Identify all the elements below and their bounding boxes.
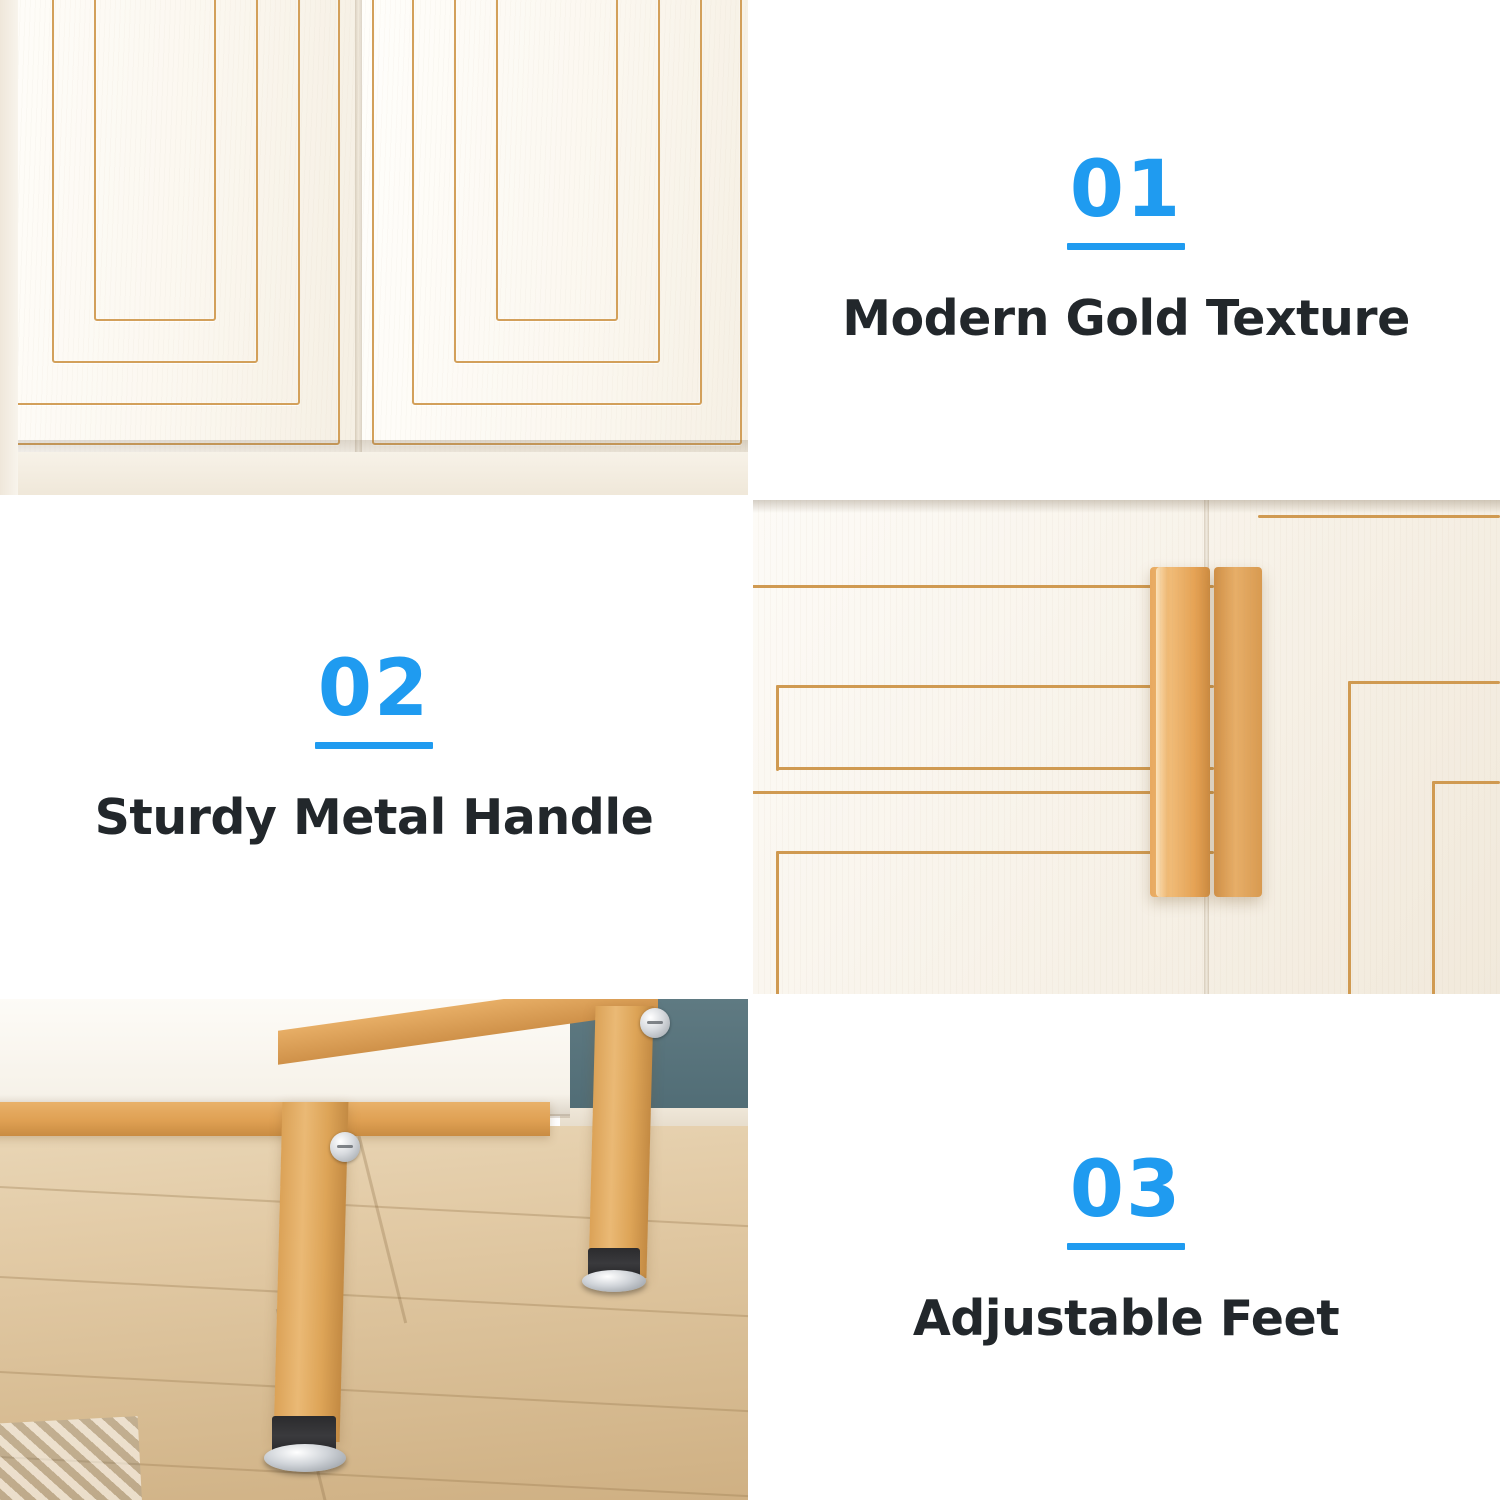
feature-02-underline [315, 742, 433, 749]
adjustable-foot-pad-front [264, 1444, 346, 1472]
feature-collage: 01 Modern Gold Texture 02 Sturdy Metal H… [0, 0, 1500, 1500]
leg-screw [330, 1132, 360, 1162]
door-wood-texture [0, 0, 750, 497]
cabinet-base-band [0, 452, 750, 497]
feature-03-underline [1067, 1243, 1185, 1250]
cabinet-handle-closeup-photo [752, 499, 1500, 996]
feature-03-caption: Adjustable Feet [913, 1290, 1339, 1347]
feature-01-number: 01 [1070, 151, 1183, 229]
adjustable-foot-pad-rear [582, 1270, 646, 1292]
surface-texture [752, 499, 1500, 996]
grid-gutter-vertical [748, 0, 753, 1500]
floor-plank-line [0, 1371, 750, 1413]
feature-01-caption: Modern Gold Texture [842, 290, 1410, 347]
cabinet-doors-gold-inlay-photo [0, 0, 750, 497]
feature-02-text-panel: 02 Sturdy Metal Handle [0, 499, 748, 996]
feature-02-caption: Sturdy Metal Handle [95, 789, 654, 846]
feature-03-text-panel: 03 Adjustable Feet [752, 998, 1500, 1500]
floor-rug-corner [0, 1416, 142, 1500]
feature-01-text-panel: 01 Modern Gold Texture [752, 0, 1500, 497]
cabinet-leg-adjustable-foot-photo [0, 998, 750, 1500]
leg-screw [640, 1008, 670, 1038]
cabinet-left-side-panel [0, 0, 18, 497]
cabinet-leg-rear [588, 1006, 653, 1278]
feature-02-number: 02 [318, 650, 431, 728]
gold-front-apron [0, 1102, 550, 1136]
feature-03-number: 03 [1070, 1151, 1183, 1229]
grid-gutter-horizontal-1 [0, 495, 1500, 500]
grid-gutter-horizontal-2 [0, 994, 1500, 999]
feature-01-underline [1067, 243, 1185, 250]
